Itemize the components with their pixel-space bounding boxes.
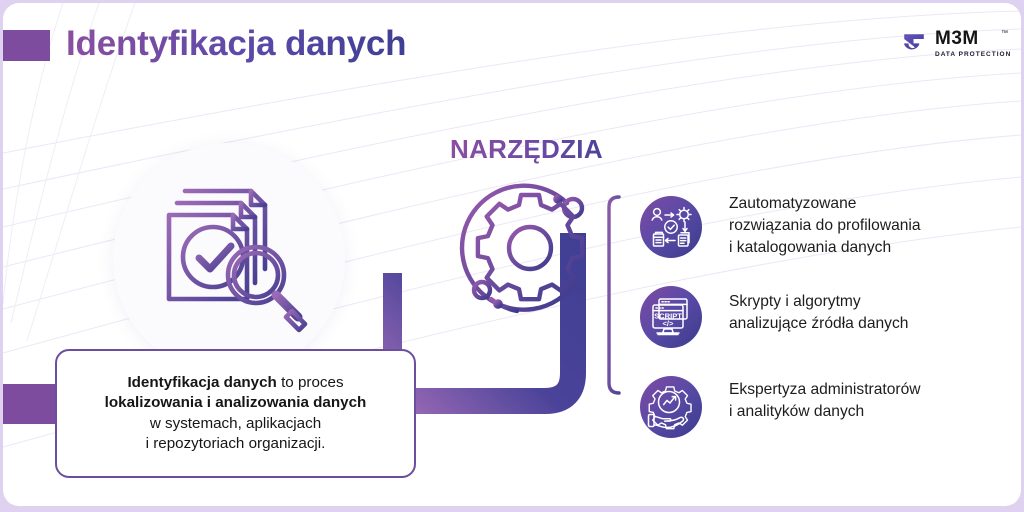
card-frame: Identyfikacja danych M3M ™ DATA PROTECTI… (3, 3, 1021, 506)
tool-icon-circle-1 (640, 196, 702, 258)
tools-heading: NARZĘDZIA (450, 134, 603, 165)
hand-gear-chart-icon (640, 376, 702, 438)
tool-item-2-line1: Skrypty i algorytmy (729, 291, 908, 313)
m3m-logomark-icon (901, 31, 927, 57)
description-line-2-bold: lokalizowania i analizowania danych (105, 394, 367, 411)
tool-item-2-line2: analizujące źródła danych (729, 313, 908, 335)
logo-name: M3M (935, 29, 1011, 48)
logo-trademark: ™ (1001, 30, 1008, 37)
tool-item-3-line1: Ekspertyza administratorów (729, 379, 921, 401)
description-line-1: Identyfikacja danych to proces (127, 373, 343, 393)
tool-item-1-line1: Zautomatyzowane (729, 193, 921, 215)
script-monitor-icon: SCRIPT </> (640, 286, 702, 348)
description-line-4: i repozytoriach organizacji. (146, 434, 326, 454)
automation-workflow-icon (640, 196, 702, 258)
tool-item-text-2: Skrypty i algorytmy analizujące źródła d… (729, 291, 908, 335)
page-title: Identyfikacja danych (66, 24, 406, 64)
infographic-canvas: Identyfikacja danych M3M ™ DATA PROTECTI… (0, 0, 1024, 512)
tool-item-3-line2: i analityków danych (729, 401, 921, 423)
tool-icon-circle-2: SCRIPT </> (640, 286, 702, 348)
description-line-1-rest: to proces (277, 374, 344, 391)
logo-tagline: DATA PROTECTION (935, 52, 1011, 59)
tool-item-text-1: Zautomatyzowane rozwiązania do profilowa… (729, 193, 921, 259)
tool-item-1-line2: rozwiązania do profilowania (729, 215, 921, 237)
tool-icon-circle-3 (640, 376, 702, 438)
tool-item-text-3: Ekspertyza administratorów i analityków … (729, 379, 921, 423)
description-box: Identyfikacja danych to proces lokalizow… (55, 349, 416, 478)
title-accent-bar (3, 30, 50, 61)
description-line-2: lokalizowania i analizowania danych (105, 393, 367, 413)
tool-item-1-line3: i katalogowania danych (729, 237, 921, 259)
documents-with-magnifier-icon (155, 173, 315, 333)
brand-logo: M3M ™ DATA PROTECTION (901, 29, 1011, 59)
code-label: </> (663, 319, 675, 328)
description-line-3: w systemach, aplikacjach (150, 414, 321, 434)
description-line-1-bold: Identyfikacja danych (127, 374, 276, 391)
